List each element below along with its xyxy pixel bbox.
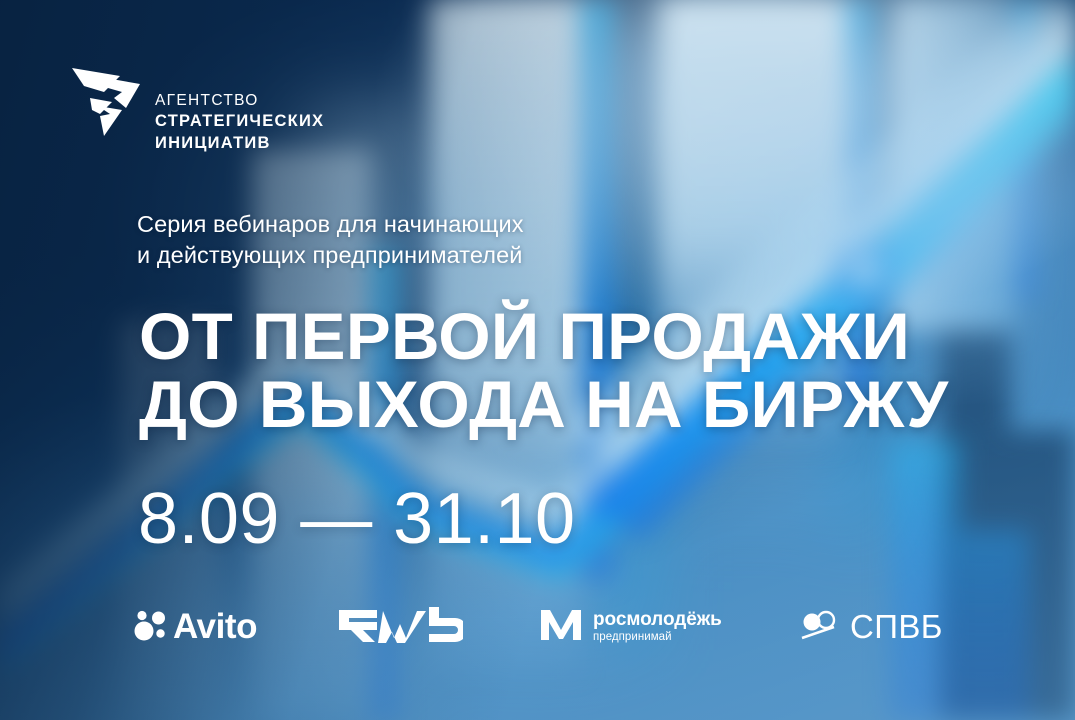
spvb-wordmark: СПВБ [850,608,943,646]
promo-poster: АГЕНТСТВО СТРАТЕГИЧЕСКИХ ИНИЦИАТИВ Серия… [0,0,1075,720]
avito-dots-icon [134,608,168,647]
rosmolodezh-m-icon [540,608,582,647]
subtitle-line-2: и действующих предпринимателей [137,240,524,271]
partner-logo-avito: Avito [134,596,257,658]
partner-logo-rosmolodezh: росмолодёжь предпринимай [540,596,722,658]
poster-subtitle: Серия вебинаров для начинающих и действу… [137,209,524,270]
partner-logo-rwb [337,596,463,658]
rwb-wordmark-icon [337,605,463,650]
rosmolodezh-wordmark: росмолодёжь [593,610,722,629]
subtitle-line-1: Серия вебинаров для начинающих [137,209,524,240]
spvb-circles-icon [800,608,840,647]
asi-arrow-mark-icon [70,62,142,138]
headline-line-2: ДО ВЫХОДА НА БИРЖУ [139,371,948,439]
partner-logos: Avito [128,596,958,658]
asi-logo-line3: ИНИЦИАТИВ [155,133,324,155]
partner-logo-spvb: СПВБ [800,596,943,658]
asi-logo-line1: АГЕНТСТВО [155,91,324,111]
asi-logo: АГЕНТСТВО СТРАТЕГИЧЕСКИХ ИНИЦИАТИВ [70,62,324,155]
poster-headline: ОТ ПЕРВОЙ ПРОДАЖИ ДО ВЫХОДА НА БИРЖУ [139,303,948,439]
avito-wordmark: Avito [173,607,257,647]
asi-logo-line2: СТРАТЕГИЧЕСКИХ [155,111,324,133]
headline-line-1: ОТ ПЕРВОЙ ПРОДАЖИ [139,303,948,371]
rosmolodezh-tagline: предпринимай [593,632,722,644]
event-dates: 8.09 — 31.10 [138,483,576,555]
